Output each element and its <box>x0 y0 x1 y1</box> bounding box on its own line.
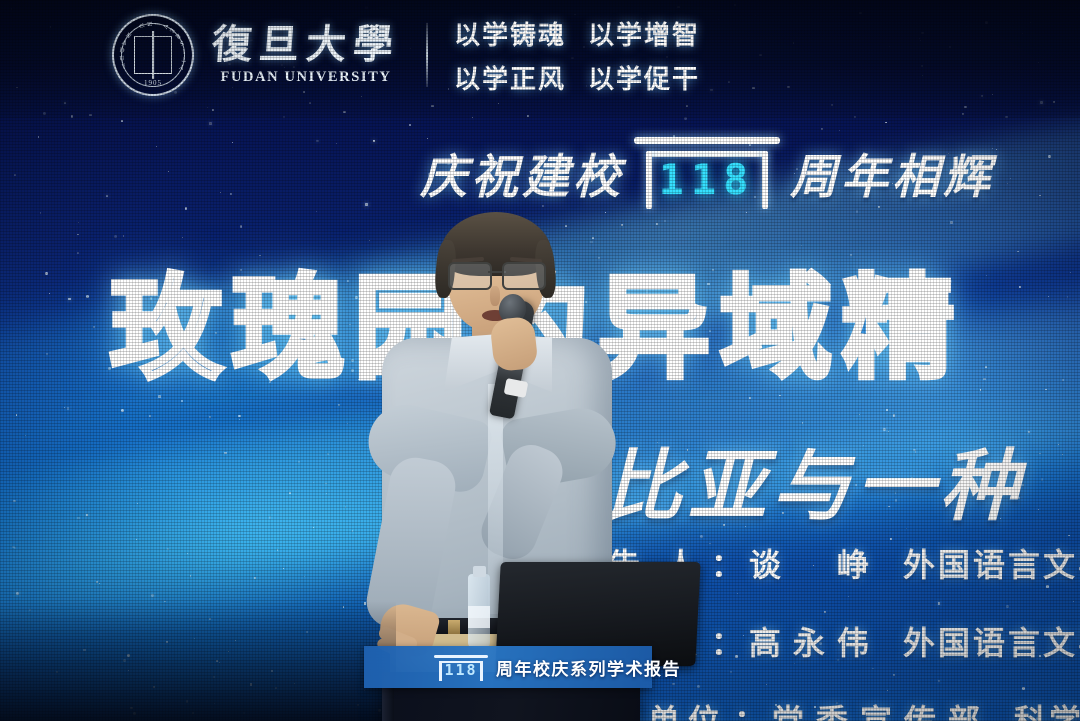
seal-inner-glyph <box>134 36 172 74</box>
eyeglasses-icon <box>448 262 546 288</box>
bottle-label <box>468 606 490 628</box>
speaker-right-hand <box>489 316 538 372</box>
fudan-wordmark: 復旦大學 FUDAN UNIVERSITY <box>212 25 400 85</box>
credit-affiliation: 外国语言文学 <box>903 540 1080 586</box>
gate-118-icon: 118 <box>634 133 780 211</box>
credit-affiliation: 外国语言文学 <box>903 618 1080 664</box>
anniversary-number: 118 <box>634 159 780 201</box>
speaker-figure: 118 周年校庆系列学术报告 FUDAN UNIVERSITY 1905 <box>372 214 672 721</box>
podium-sign: 118 周年校庆系列学术报告 <box>364 646 652 688</box>
slogan-block: 以学铸魂 以学增智 以学正风 以学促干 <box>454 15 700 96</box>
foreground-shadow <box>0 601 396 721</box>
lens-left <box>448 262 492 290</box>
bottle-cap <box>473 566 486 577</box>
credit-name: 谈 峥 <box>749 540 881 586</box>
banner-suffix: 周年相辉 <box>790 138 994 207</box>
credit-colon: ： <box>734 696 766 721</box>
credit-name: 党委宣传部 <box>772 696 992 721</box>
podium-anniversary-number: 118 <box>434 663 488 678</box>
slogan-line-1: 以学铸魂 以学增智 <box>454 15 700 52</box>
credit-colon: ： <box>711 618 743 664</box>
credit-colon: ： <box>711 540 743 586</box>
gate-top-beam <box>634 137 780 144</box>
slogan-2b: 以学促干 <box>588 59 700 96</box>
podium: 118 周年校庆系列学术报告 FUDAN UNIVERSITY 1905 <box>358 646 658 721</box>
slogan-1b: 以学增智 <box>588 15 700 52</box>
fudan-seal-icon: FUDAN UNIVERSITY 1905 <box>112 14 194 96</box>
banner-prefix: 庆祝建校 <box>420 138 624 207</box>
credit-name: 高永伟 <box>749 618 881 664</box>
presentation-photo: FUDAN UNIVERSITY 1905 復旦大學 FUDAN UNIVERS… <box>0 0 1080 721</box>
wordmark-chinese: 復旦大學 <box>211 25 402 65</box>
slogan-1a: 以学铸魂 <box>454 15 566 52</box>
podium-gate-top-beam <box>434 655 488 658</box>
slogan-line-2: 以学正风 以学促干 <box>454 59 700 96</box>
podium-gate-118-icon: 118 <box>434 654 488 681</box>
credit-row: 办单位 ： 党委宣传部 科学技术 <box>608 696 1080 721</box>
podium-sign-text: 周年校庆系列学术报告 <box>496 655 681 680</box>
wordmark-english: FUDAN UNIVERSITY <box>220 70 391 85</box>
lens-right <box>502 262 546 290</box>
credit-affiliation: 科学技术 <box>1014 696 1080 721</box>
seal-year: 1905 <box>114 79 192 87</box>
header-row: FUDAN UNIVERSITY 1905 復旦大學 FUDAN UNIVERS… <box>112 14 700 96</box>
slogan-2a: 以学正风 <box>454 59 566 96</box>
header-divider <box>426 23 428 87</box>
speaker-nose <box>490 286 500 306</box>
anniversary-banner-line: 庆祝建校 118 周年相辉 <box>420 133 994 211</box>
belt-buckle <box>448 620 460 634</box>
